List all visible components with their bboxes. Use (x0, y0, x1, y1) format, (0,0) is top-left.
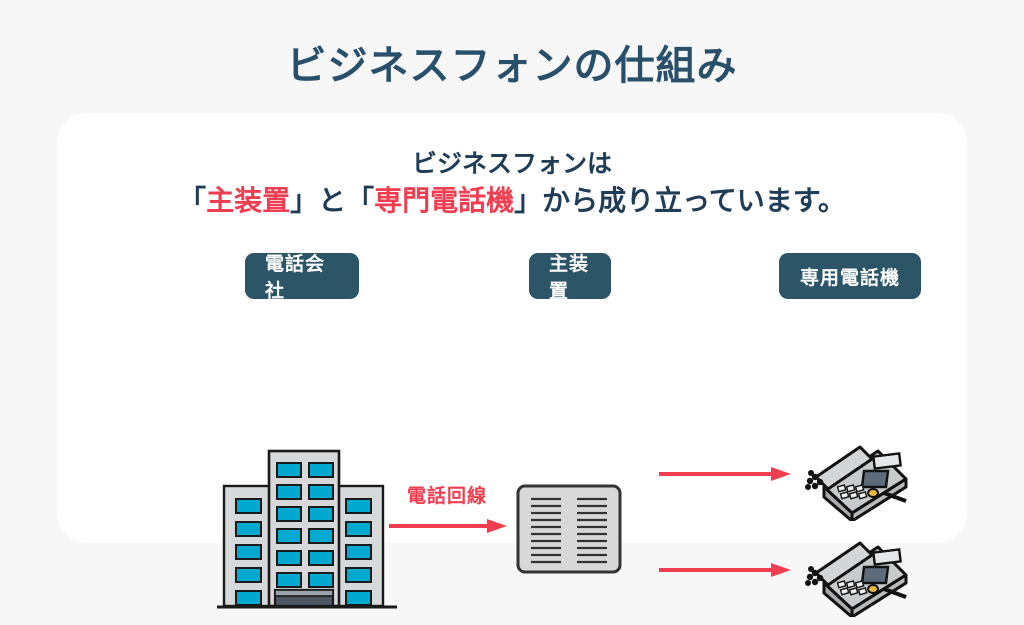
subtitle-line-1: ビジネスフォンは (57, 147, 967, 181)
subtitle-term-main-unit: 主装置 (206, 184, 290, 217)
arrow-label-telephone-line: 電話回線 (382, 481, 512, 508)
badge-main-unit-label: 主装置 (549, 249, 591, 303)
arrow-main-unit-to-phone-1 (659, 465, 791, 487)
content-card: ビジネスフォンは 「主装置」と「専門電話機」から成り立っています。 電話会社 主… (57, 113, 967, 543)
subtitle-conjunction: 」と「 (290, 184, 374, 217)
subtitle-bracket-open-1: 「 (178, 184, 206, 217)
office-building-icon (217, 441, 397, 625)
arrow-main-unit-to-phone-2 (659, 561, 791, 583)
subtitle: ビジネスフォンは 「主装置」と「専門電話機」から成り立っています。 (57, 147, 967, 220)
arrow-telco-to-main-unit (389, 517, 507, 539)
subtitle-tail: 」から成り立っています。 (514, 184, 846, 217)
subtitle-line-2: 「主装置」と「専門電話機」から成り立っています。 (57, 181, 967, 220)
badge-telephone-company-label: 電話会社 (265, 249, 339, 303)
page-title: ビジネスフォンの仕組み (0, 42, 1024, 90)
badge-main-unit: 主装置 (529, 253, 611, 299)
desk-phone-icon-2 (802, 531, 912, 621)
badge-telephone-company: 電話会社 (245, 253, 359, 299)
pbx-main-unit-icon (515, 483, 623, 579)
subtitle-term-dedicated-phone: 専門電話機 (374, 184, 514, 217)
badge-dedicated-phone-label: 専用電話機 (800, 263, 900, 290)
desk-phone-icon-1 (802, 435, 912, 525)
badge-dedicated-phone: 専用電話機 (779, 253, 921, 299)
